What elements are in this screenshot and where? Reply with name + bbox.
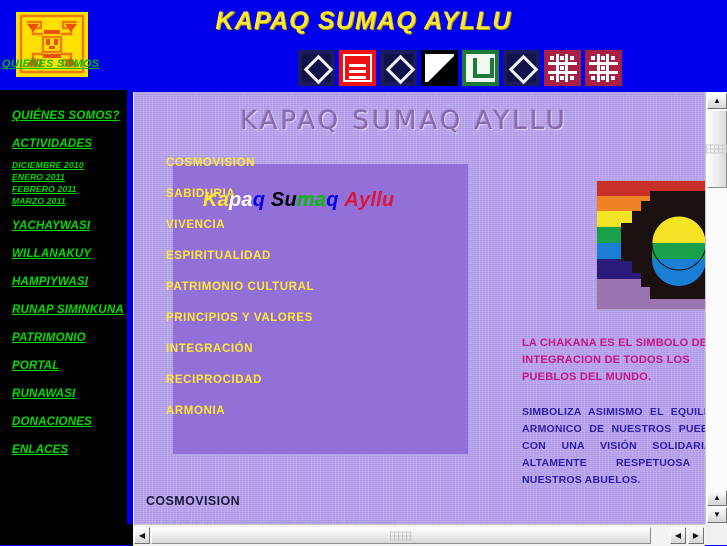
body-text: ... y la idea de la cosmovisión andina d… [146, 516, 696, 524]
content-frame: KAPAQ SUMAQ AYLLU Kapaq Sumaq Ayllu COSM… [133, 92, 706, 524]
sidebar-item-patrimonio[interactable]: PATRIMONIO [12, 332, 86, 344]
brand-letter-6: S [271, 189, 285, 211]
page-title: KAPAQ SUMAQ AYLLU [134, 106, 674, 136]
menu-item-principios-y-valores[interactable]: PRINCIPIOS Y VALORES [166, 312, 313, 324]
scroll-grip-icon-h [390, 531, 412, 540]
sidebar-item-diciembre-2010[interactable]: DICIEMBRE 2010 [12, 160, 84, 170]
sidebar-item-enero-2011[interactable]: ENERO 2011 [12, 172, 65, 182]
scroll-left-button-2[interactable]: ◀ [670, 527, 686, 544]
grid-icon-1[interactable] [544, 50, 581, 86]
sidebar-item-runap-siminkuna[interactable]: RUNAP SIMINKUNA [12, 304, 124, 316]
sidebar-item-yachaywasi[interactable]: YACHAYWASI [12, 220, 90, 232]
sidebar-item-marzo-2011[interactable]: MARZO 2011 [12, 196, 66, 206]
sidebar-item-portal[interactable]: PORTAL [12, 360, 59, 372]
sidebar-item-willanakuy[interactable]: WILLANAKUY [12, 248, 91, 260]
menu-item-patrimonio-cultural[interactable]: PATRIMONIO CULTURAL [166, 281, 314, 293]
sidebar-bottom-filler [0, 524, 133, 545]
vertical-scrollbar[interactable]: ▲ ▲ ▼ [705, 92, 727, 524]
brand-letter-9: a [315, 189, 326, 211]
scroll-right-button[interactable]: ▶ [688, 527, 704, 544]
chakana-paragraph: SIMBOLIZA ASIMISMO EL EQUILIBRIO ARMONIC… [522, 404, 706, 489]
scroll-left-button[interactable]: ◀ [134, 527, 150, 544]
banner-title: KAPAQ SUMAQ AYLLU [0, 7, 727, 36]
menu-item-sabiduria[interactable]: SABIDURIA [166, 188, 235, 200]
brand-letter-8: m [297, 189, 315, 211]
corner-fold-icon[interactable] [421, 50, 458, 86]
menu-item-cosmovision[interactable]: COSMOVISION [166, 157, 255, 169]
sidebar-item-hampiywasi[interactable]: HAMPIYWASI [12, 276, 88, 288]
brand-letter-12: A [344, 189, 359, 211]
sidebar-item-actividades[interactable]: ACTIVIDADES [12, 138, 92, 150]
sidebar-item-donaciones[interactable]: DONACIONES [12, 416, 92, 428]
u-letter-icon[interactable] [462, 50, 499, 86]
brand-letter-10: q [326, 189, 338, 211]
sidebar-item-runawasi[interactable]: RUNAWASI [12, 388, 76, 400]
menu-item-armonia[interactable]: ARMONIA [166, 405, 225, 417]
diamond-icon-1[interactable] [298, 50, 335, 86]
grid-icon-2[interactable] [585, 50, 622, 86]
scroll-grip-icon [706, 145, 727, 154]
brand-letter-4: q [253, 189, 265, 211]
brand-letter-13: y [359, 189, 370, 211]
diamond-icon-3[interactable] [503, 50, 540, 86]
logo-quienes-somos-link[interactable]: QUIENES SOMOS [2, 58, 120, 74]
sidebar-item-febrero-2011[interactable]: FEBRERO 2011 [12, 184, 77, 194]
bars-icon[interactable] [339, 50, 376, 86]
brand-letter-3: a [241, 189, 252, 211]
top-banner: QUIENES SOMOS KAPAQ SUMAQ AYLLU [0, 0, 727, 90]
sidebar-item-qui-nes-somos[interactable]: QUIÉNES SOMOS? [12, 110, 120, 122]
sidebar-item-enlaces[interactable]: ENLACES [12, 444, 68, 456]
brand-letter-16: u [382, 189, 394, 211]
sidebar: QUIÉNES SOMOS?ACTIVIDADESDICIEMBRE 2010E… [0, 90, 127, 545]
menu-item-reciprocidad[interactable]: RECIPROCIDAD [166, 374, 262, 386]
chakana-caption: LA CHAKANA ES EL SIMBOLO DE LA INTEGRACI… [522, 335, 706, 386]
menu-item-vivencia[interactable]: VIVENCIA [166, 219, 225, 231]
horizontal-scroll-thumb[interactable] [151, 527, 651, 544]
scroll-down-button[interactable]: ▼ [707, 507, 727, 523]
menu-item-espiritualidad[interactable]: ESPIRITUALIDAD [166, 250, 271, 262]
chakana-wiphala-image [596, 180, 706, 310]
vertical-scroll-thumb[interactable] [707, 110, 727, 188]
menu-item-integraci-n[interactable]: INTEGRACIÓN [166, 343, 253, 355]
diamond-icon-2[interactable] [380, 50, 417, 86]
icon-strip[interactable] [298, 50, 622, 86]
scroll-up-button[interactable]: ▲ [707, 93, 727, 109]
brand-letter-7: u [284, 189, 296, 211]
horizontal-scrollbar[interactable]: ◀ ◀ ▶ [133, 524, 705, 546]
scrollbar-corner [705, 524, 727, 545]
section-heading: COSMOVISION [146, 494, 240, 508]
scroll-up-button-2[interactable]: ▲ [707, 490, 727, 506]
